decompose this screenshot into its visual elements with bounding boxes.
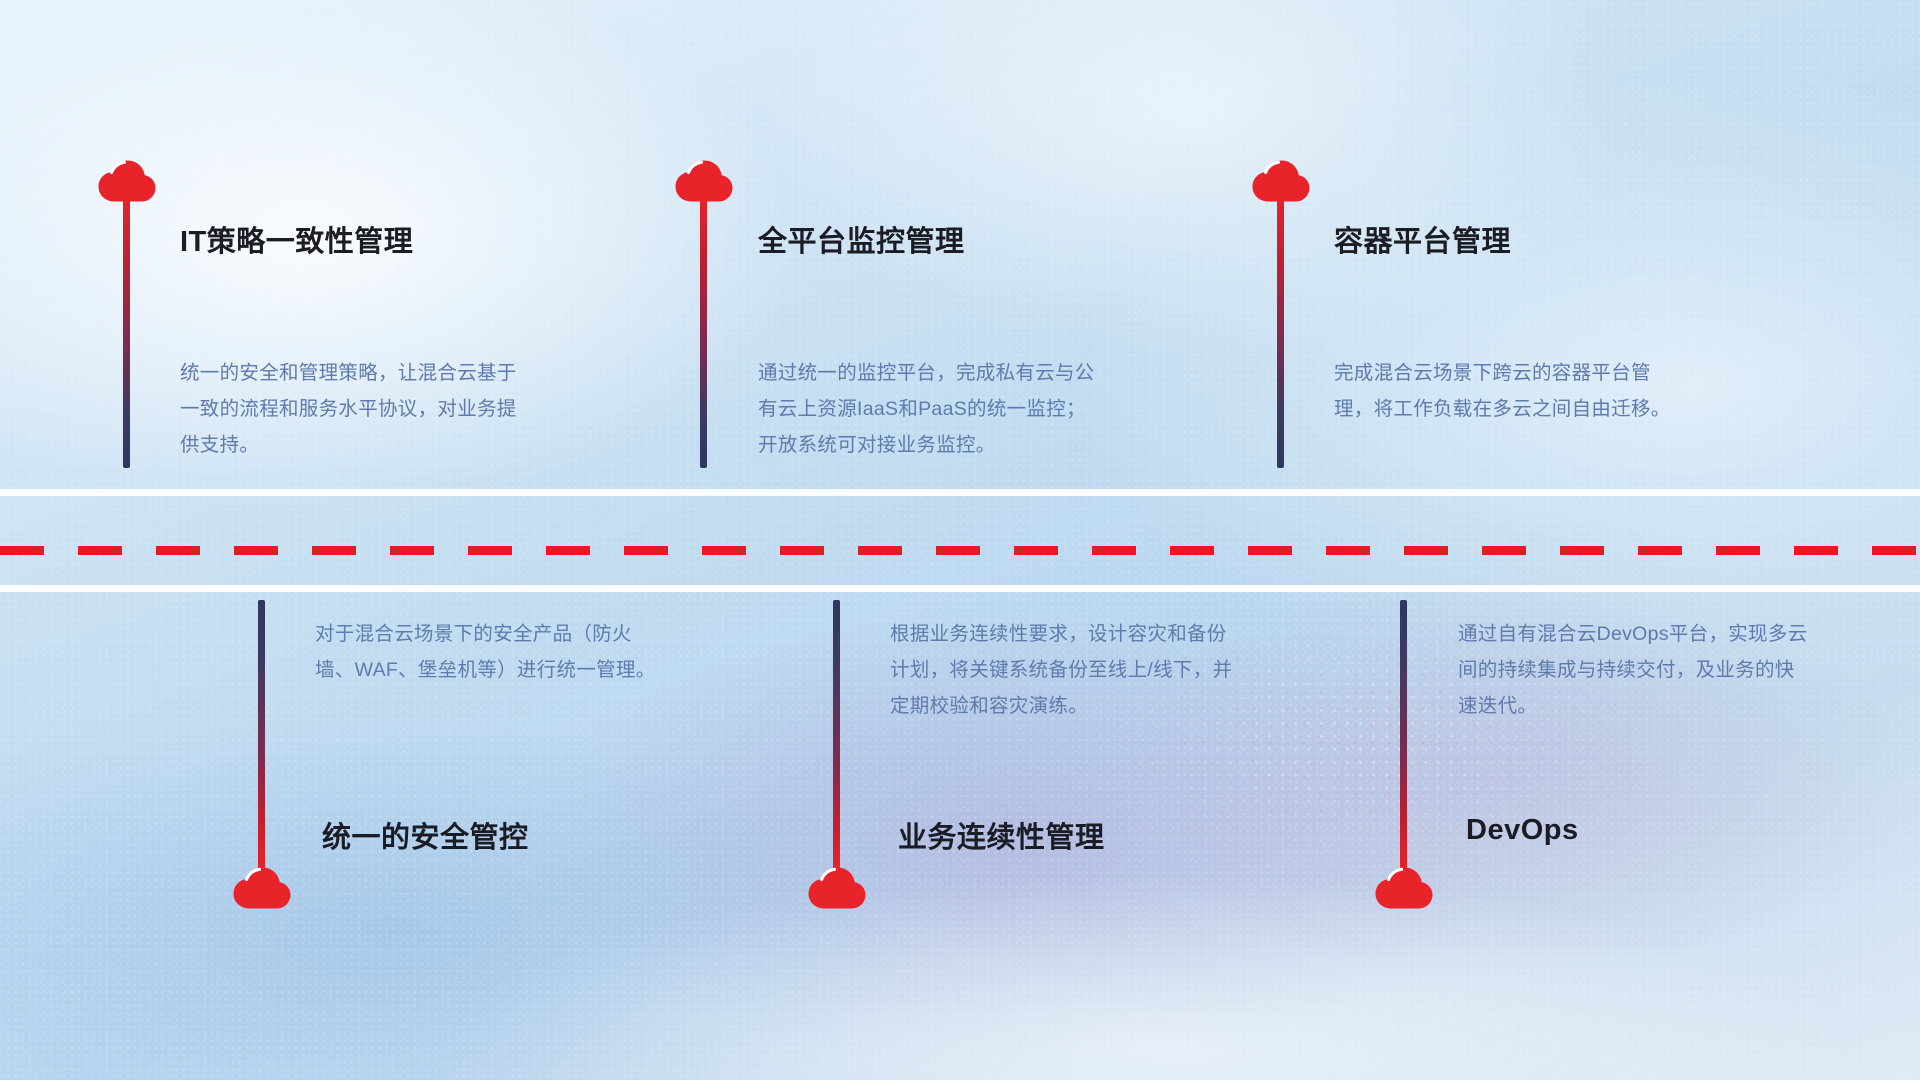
top-body-3: 完成混合云场景下跨云的容器平台管理，将工作负载在多云之间自由迁移。: [1334, 355, 1679, 427]
connector-stem: [258, 600, 265, 870]
top-heading-3: 容器平台管理: [1334, 218, 1511, 260]
connector-stem: [1400, 600, 1407, 870]
cloud-icon: [233, 867, 291, 909]
bottom-column-1: 对于混合云场景下的安全产品（防火墙、WAF、堡垒机等）进行统一管理。 统一的安全…: [0, 592, 620, 1080]
divider-line-lower: [0, 585, 1920, 592]
connector-stem: [833, 600, 840, 870]
bottom-heading-3: DevOps: [1466, 814, 1579, 847]
top-body-1: 统一的安全和管理策略，让混合云基于一致的流程和服务水平协议，对业务提供支持。: [180, 355, 525, 463]
bottom-body-1: 对于混合云场景下的安全产品（防火墙、WAF、堡垒机等）进行统一管理。: [315, 616, 667, 688]
top-column-2: 全平台监控管理 通过统一的监控平台，完成私有云与公有云上资源IaaS和PaaS的…: [630, 0, 1250, 489]
connector-stem: [1277, 196, 1284, 468]
bottom-column-3: 通过自有混合云DevOps平台，实现多云间的持续集成与持续交付，及业务的快速迭代…: [1200, 592, 1920, 1080]
cloud-icon: [1375, 867, 1433, 909]
top-column-1: IT策略一致性管理 统一的安全和管理策略，让混合云基于一致的流程和服务水平协议，…: [0, 0, 620, 489]
divider-dashed-red: [0, 546, 1920, 555]
cloud-icon: [808, 867, 866, 909]
bottom-row: 对于混合云场景下的安全产品（防火墙、WAF、堡垒机等）进行统一管理。 统一的安全…: [0, 592, 1920, 1080]
top-heading-1: IT策略一致性管理: [180, 218, 413, 260]
connector-stem: [700, 196, 707, 468]
bottom-heading-2: 业务连续性管理: [898, 814, 1105, 856]
top-heading-2: 全平台监控管理: [758, 218, 965, 260]
bottom-body-2: 根据业务连续性要求，设计容灾和备份计划，将关键系统备份至线上/线下，并定期校验和…: [890, 616, 1240, 724]
connector-stem: [123, 196, 130, 468]
top-body-2: 通过统一的监控平台，完成私有云与公有云上资源IaaS和PaaS的统一监控；开放系…: [758, 355, 1103, 463]
bottom-column-2: 根据业务连续性要求，设计容灾和备份计划，将关键系统备份至线上/线下，并定期校验和…: [630, 592, 1250, 1080]
top-column-3: 容器平台管理 完成混合云场景下跨云的容器平台管理，将工作负载在多云之间自由迁移。: [1200, 0, 1840, 489]
top-row: IT策略一致性管理 统一的安全和管理策略，让混合云基于一致的流程和服务水平协议，…: [0, 0, 1920, 489]
bottom-body-3: 通过自有混合云DevOps平台，实现多云间的持续集成与持续交付，及业务的快速迭代…: [1458, 616, 1810, 724]
divider-line-upper: [0, 489, 1920, 496]
bottom-heading-1: 统一的安全管控: [322, 814, 529, 856]
